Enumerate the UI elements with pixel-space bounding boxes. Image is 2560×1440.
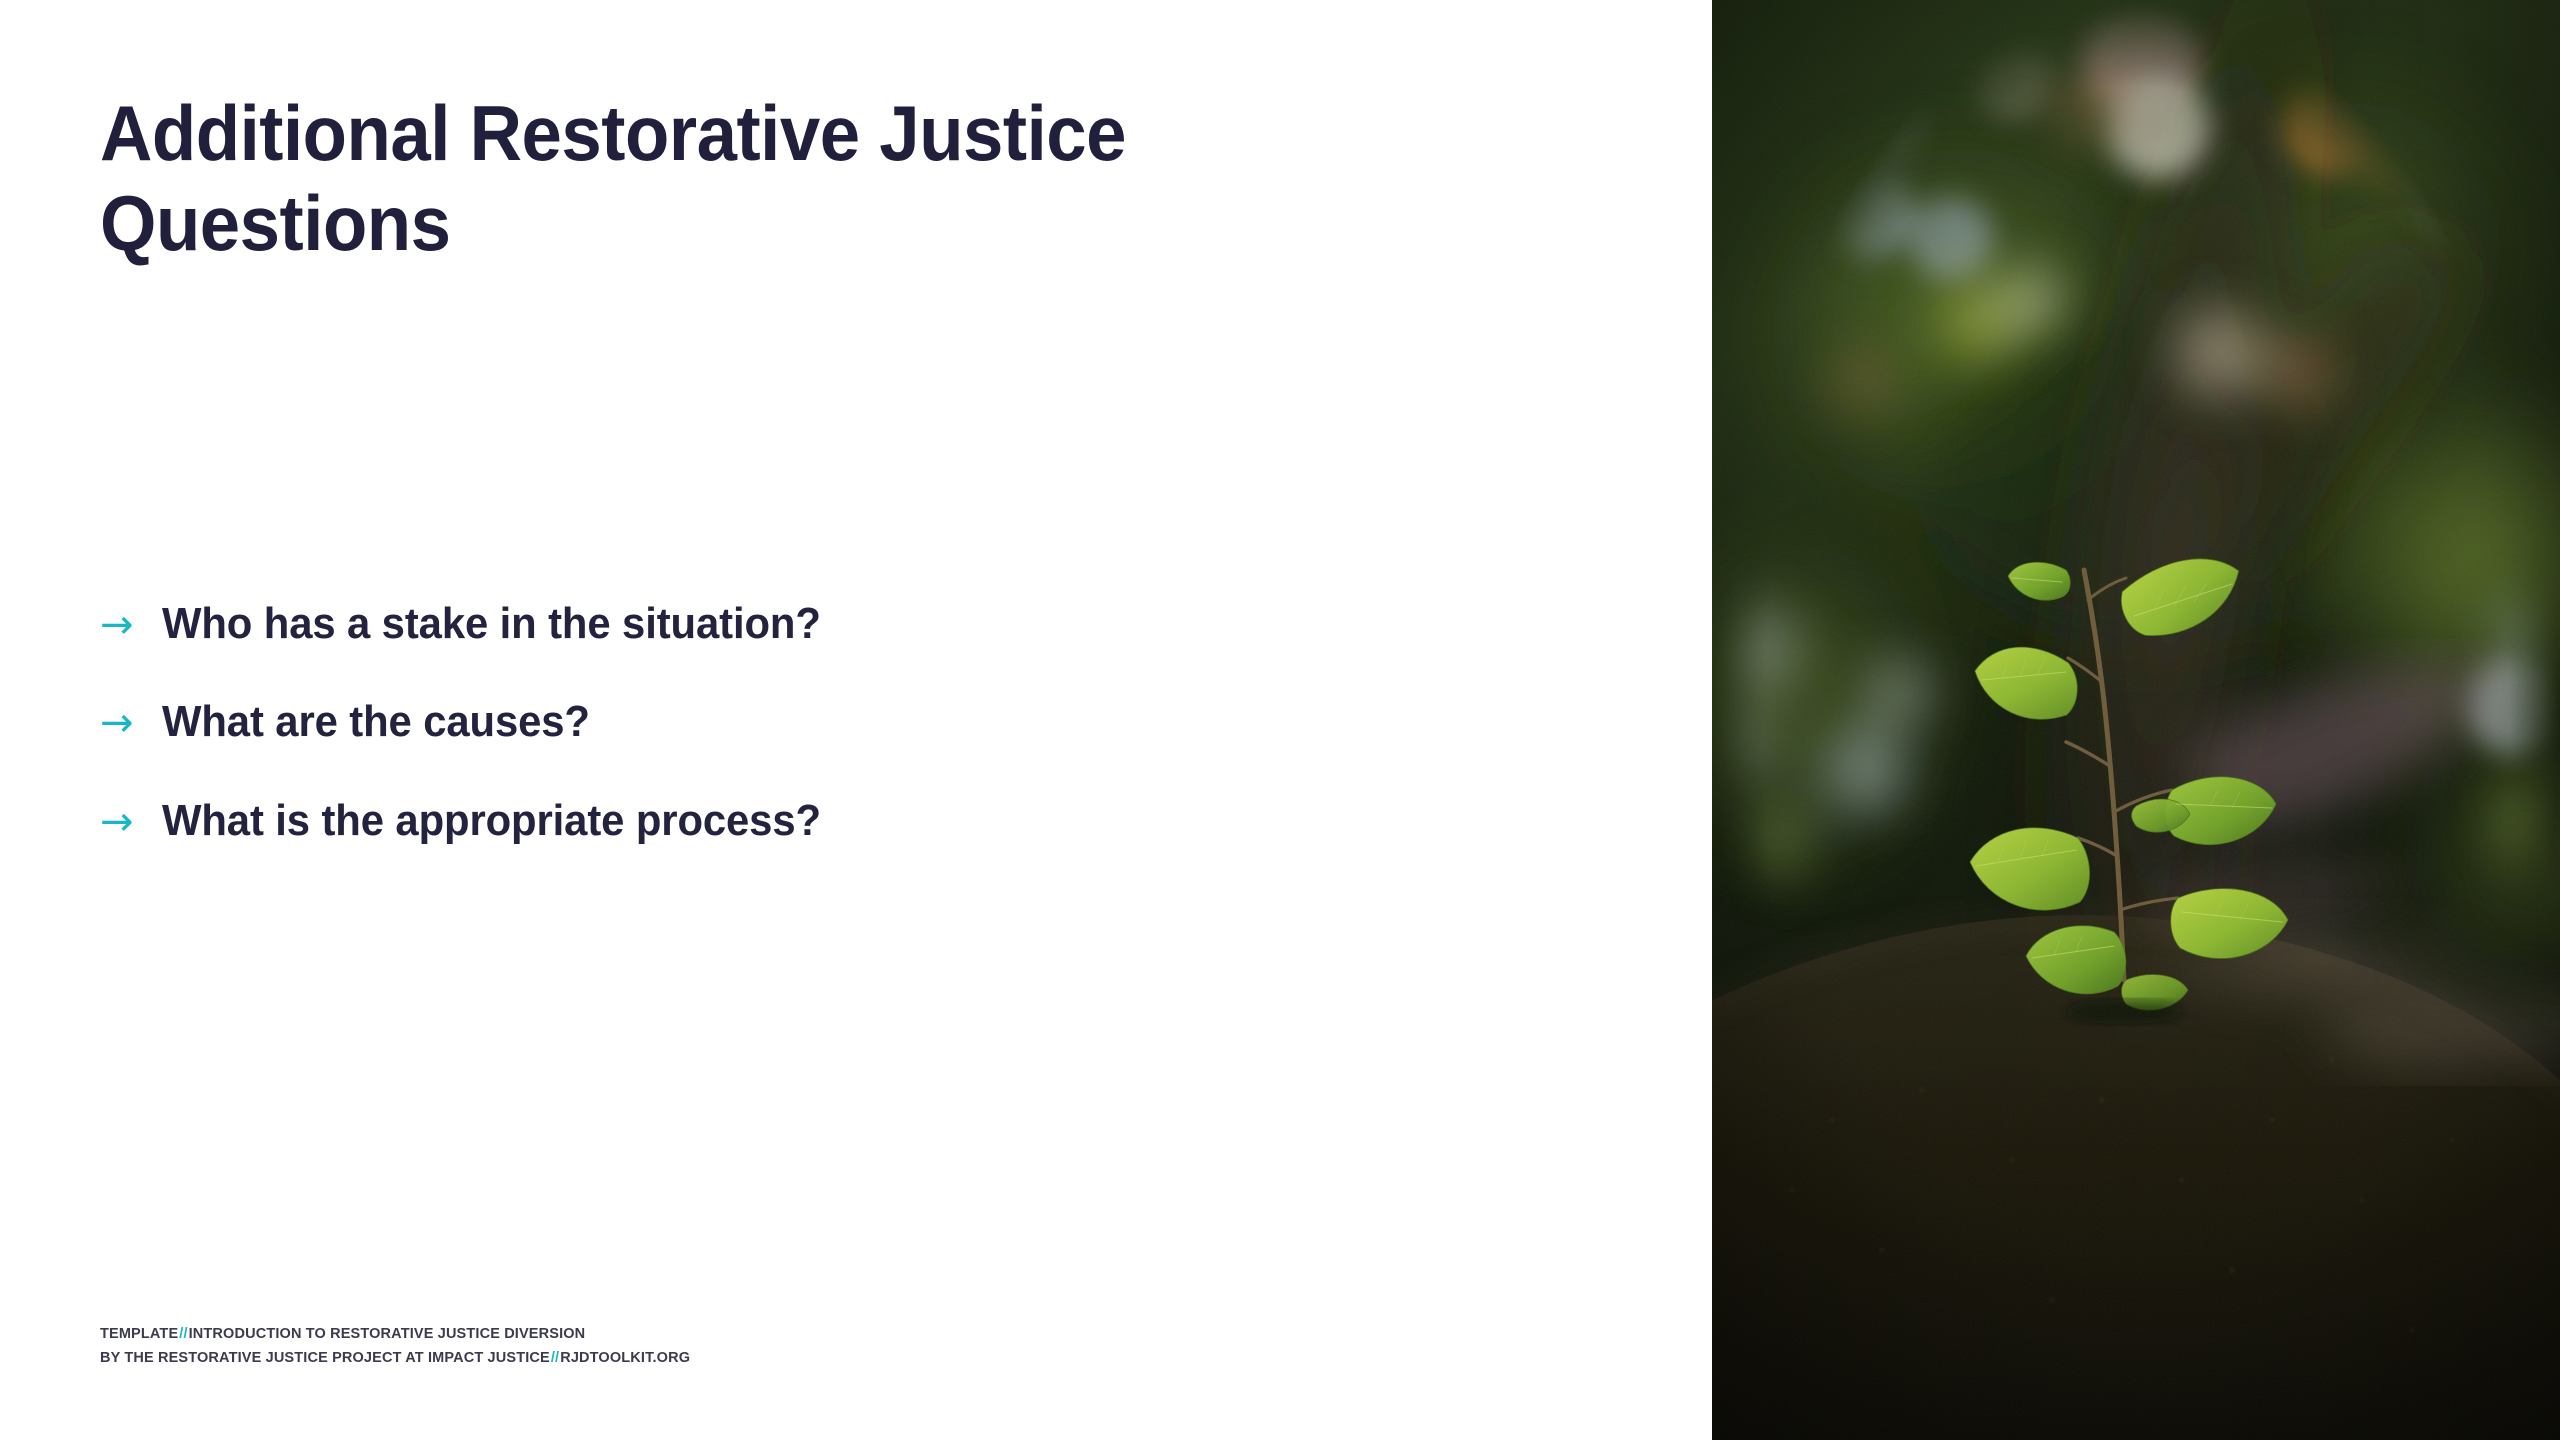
footer-separator-icon: // — [550, 1350, 560, 1366]
footer-attribution: BY THE RESTORATIVE JUSTICE PROJECT AT IM… — [100, 1350, 550, 1366]
footer-website: RJDTOOLKIT.ORG — [560, 1350, 690, 1366]
slide-footer: TEMPLATE//INTRODUCTION TO RESTORATIVE JU… — [100, 1323, 690, 1370]
list-item: → What is the appropriate process? — [100, 797, 1400, 845]
photo-illustration — [1712, 0, 2560, 1440]
list-item: → What are the causes? — [100, 698, 1400, 746]
footer-line-2: BY THE RESTORATIVE JUSTICE PROJECT AT IM… — [100, 1347, 690, 1370]
list-item: → Who has a stake in the situation? — [100, 600, 1400, 648]
list-item-label: Who has a stake in the situation? — [162, 600, 1338, 648]
content-pane: Additional Restorative Justice Questions… — [0, 0, 1712, 1440]
questions-list: → Who has a stake in the situation? → Wh… — [100, 600, 1400, 845]
list-item-label: What are the causes? — [162, 698, 1338, 746]
footer-template-label: TEMPLATE — [100, 1326, 178, 1342]
list-item-label: What is the appropriate process? — [162, 797, 1338, 845]
page-title: Additional Restorative Justice Questions — [100, 88, 1197, 269]
footer-deck-title: INTRODUCTION TO RESTORATIVE JUSTICE DIVE… — [189, 1326, 586, 1342]
footer-separator-icon: // — [178, 1326, 188, 1342]
footer-line-1: TEMPLATE//INTRODUCTION TO RESTORATIVE JU… — [100, 1323, 690, 1346]
arrow-right-icon: → — [100, 605, 162, 645]
arrow-right-icon: → — [100, 802, 162, 842]
arrow-right-icon: → — [100, 703, 162, 743]
presentation-slide: Additional Restorative Justice Questions… — [0, 0, 2560, 1440]
tree-sapling-photo — [1712, 0, 2560, 1440]
